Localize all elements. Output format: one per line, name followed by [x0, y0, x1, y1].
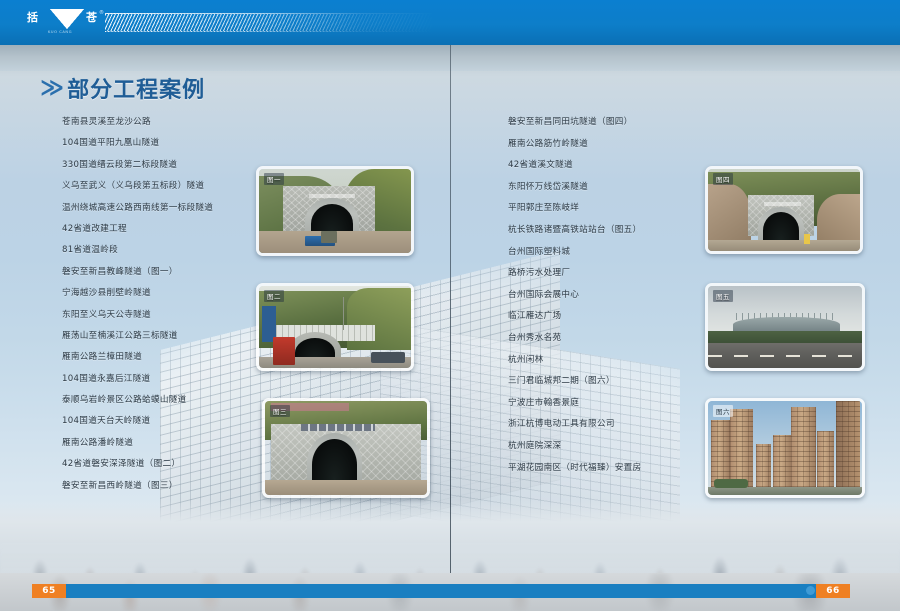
residential-tower [791, 407, 816, 488]
road-lane-marking [708, 355, 862, 357]
vehicles-row [301, 424, 376, 432]
excavator [321, 231, 336, 243]
ground [708, 240, 860, 251]
photo-station-5: 图五 [705, 283, 865, 371]
photo-caption: 图四 [713, 173, 733, 185]
photo-caption: 图二 [264, 290, 284, 302]
list-item: 台州秀水名苑 [508, 333, 708, 355]
list-item: 雁南公路兰樟田隧道 [62, 352, 252, 373]
list-item: 雁荡山至楠溪江公路三标隧道 [62, 331, 252, 352]
chevron-double-right-icon: ≫ [40, 77, 62, 100]
list-item: 104国道平阳九凰山隧道 [62, 138, 252, 159]
residential-tower [836, 401, 861, 487]
list-item: 104国道天台天岭隧道 [62, 416, 252, 437]
list-item: 杭州闲林 [508, 355, 708, 377]
list-item: 磐安至新昌西岭隧道（图三） [62, 481, 252, 502]
photo-caption: 图三 [270, 405, 290, 417]
list-item: 81省道温岭段 [62, 245, 252, 266]
list-item: 宁波庄市翰香景庭 [508, 398, 708, 420]
photo-tunnel-2: 图二 [256, 283, 414, 371]
list-item: 临江雁达广场 [508, 311, 708, 333]
residential-tower [730, 409, 753, 488]
list-item: 温州绕城高速公路西南线第一标段隧道 [62, 203, 252, 224]
page-body: ≫ 部分工程案例 苍南县灵溪至龙沙公路 104国道平阳九凰山隧道 330国道缙云… [0, 45, 900, 573]
list-item: 磐安至新昌同田坑隧道（图四） [508, 117, 708, 139]
portal-signboard [764, 202, 800, 206]
page-title-text: 部分工程案例 [67, 72, 205, 104]
list-item: 104国道永嘉后江隧道 [62, 374, 252, 395]
list-item: 42省道改建工程 [62, 224, 252, 245]
list-item: 雁南公路潘岭隧道 [62, 438, 252, 459]
brochure-spread: 括 苍 ® KUO CANG 括 苍 ® KUO CANG [0, 0, 900, 611]
ground [265, 480, 427, 495]
list-item: 东阳至义乌天公寺隧道 [62, 310, 252, 331]
list-item: 路桥污水处理厂 [508, 268, 708, 290]
photo-caption: 图五 [713, 290, 733, 302]
footer-bar-left [48, 584, 458, 598]
logo-pinyin: KUO CANG [48, 30, 72, 34]
mountain-peak-icon [59, 12, 79, 27]
list-item: 泰顺乌岩岭景区公路蛤蟆山隧道 [62, 395, 252, 416]
list-item: 磐安至新昌教峰隧道（图一） [62, 267, 252, 288]
utility-pole [343, 297, 344, 330]
header-left-half: 括 苍 ® KUO CANG [0, 0, 450, 45]
list-item: 义乌至武义（义乌段第五标段）隧道 [62, 181, 252, 202]
photo-tunnel-4: 图四 [705, 166, 863, 254]
photo-tunnel-3: 图三 [262, 398, 430, 498]
list-item: 330国道缙云段第二标段隧道 [62, 160, 252, 181]
list-item: 42省道磐安深泽隧道（图二） [62, 459, 252, 480]
list-item: 杭长铁路诸暨高铁站站台（图五） [508, 225, 708, 247]
company-logo-left: 括 苍 ® KUO CANG [24, 9, 108, 37]
red-truck [273, 337, 296, 365]
list-item: 雁南公路筋竹岭隧道 [508, 139, 708, 161]
list-item: 三门君临城邦二期（图六） [508, 376, 708, 398]
logo-char-left: 括 [27, 12, 38, 24]
left-project-list: 苍南县灵溪至龙沙公路 104国道平阳九凰山隧道 330国道缙云段第二标段隧道 义… [62, 117, 252, 502]
right-project-list: 磐安至新昌同田坑隧道（图四） 雁南公路筋竹岭隧道 42省道溪文隧道 东阳怀万线岱… [508, 117, 708, 484]
photo-caption: 图一 [264, 173, 284, 185]
header-right-half: 括 苍 ® KUO CANG [450, 0, 900, 45]
residential-tower [773, 435, 791, 488]
book-spine [450, 45, 451, 573]
footer-band: 65 66 [0, 573, 900, 611]
parked-car [371, 352, 404, 363]
photo-tunnel-1: 图一 [256, 166, 414, 256]
registered-icon: ® [99, 10, 104, 16]
page-number-left: 65 [32, 584, 66, 598]
list-item: 42省道溪文隧道 [508, 160, 708, 182]
footer-bar-dot [806, 586, 815, 595]
logo-char-right: 苍 [86, 12, 97, 24]
residential-tower [711, 420, 729, 488]
list-item: 平湖花园南区（时代福臻）安置房 [508, 463, 708, 485]
list-item: 浙江杭博电动工具有限公司 [508, 419, 708, 441]
list-item: 平阳郭庄至陈岐垟 [508, 203, 708, 225]
photo-residential-6: 图六 [705, 398, 865, 498]
header-stripe-left [105, 13, 435, 32]
page-number-right: 66 [816, 584, 850, 598]
list-item: 东阳怀万线岱溪隧道 [508, 182, 708, 204]
header-band: 括 苍 ® KUO CANG 括 苍 ® KUO CANG [0, 0, 900, 45]
residential-tower [817, 431, 834, 487]
page-title: ≫ 部分工程案例 [40, 72, 205, 104]
photo-caption: 图六 [713, 405, 733, 417]
residential-tower [756, 444, 771, 487]
list-item: 宁海越沙县削壁岭隧道 [62, 288, 252, 309]
list-item: 台州国际塑料城 [508, 247, 708, 269]
footer-bar-right [440, 584, 850, 598]
landscaping [714, 479, 748, 488]
list-item: 台州国际会展中心 [508, 290, 708, 312]
list-item: 苍南县灵溪至龙沙公路 [62, 117, 252, 138]
list-item: 杭州庭院深深 [508, 441, 708, 463]
worker-marker [804, 234, 810, 244]
